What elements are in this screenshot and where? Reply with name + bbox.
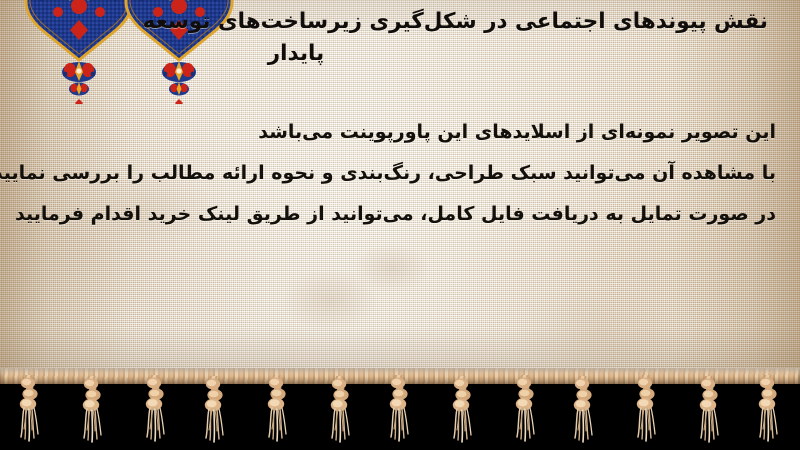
fringe-tassel — [631, 375, 661, 445]
tassel-icon — [325, 376, 355, 446]
tassel-icon — [14, 375, 44, 445]
tassel-icon — [631, 375, 661, 445]
pendant-drop-lower — [169, 82, 189, 96]
slide-title: نقش پیوندهای اجتماعی در شکل‌گیری زیرساخت… — [30, 6, 782, 70]
tassel-icon — [753, 375, 783, 445]
fringe-tassel — [510, 375, 540, 445]
tassel-icon — [199, 376, 229, 446]
tassel-icon — [262, 375, 292, 445]
fringe-tassel — [568, 376, 598, 446]
tassel-icon — [447, 376, 477, 446]
fringe-tassel — [694, 376, 724, 446]
fringe-tassel — [14, 375, 44, 445]
carpet-fringe-area — [0, 368, 800, 450]
body-line-3: در صورت تمایل به دریافت فایل کامل، می‌تو… — [20, 194, 776, 235]
slide-title-line-2: پایدار — [30, 38, 782, 70]
slide-title-line-1: نقش پیوندهای اجتماعی در شکل‌گیری زیرساخت… — [30, 6, 782, 38]
tassel-icon — [384, 375, 414, 445]
tassel-icon — [77, 376, 107, 446]
pendant-tip — [175, 99, 183, 104]
slide-body-text: این تصویر نمونه‌ای از اسلایدهای این پاور… — [20, 112, 776, 235]
fringe-tassel — [262, 375, 292, 445]
fringe-tassel — [199, 376, 229, 446]
fringe-tassel — [140, 375, 170, 445]
pendant-tip — [75, 99, 83, 104]
pendant-drop-lower — [69, 82, 89, 96]
fringe-tassel — [325, 376, 355, 446]
fringe-tassel — [753, 375, 783, 445]
tassel-icon — [568, 376, 598, 446]
body-line-2: با مشاهده آن می‌توانید سبک طراحی، رنگ‌بن… — [20, 153, 776, 194]
tassel-icon — [510, 375, 540, 445]
presentation-slide: نقش پیوندهای اجتماعی در شکل‌گیری زیرساخت… — [0, 0, 800, 450]
fringe-tassel — [447, 376, 477, 446]
fringe-tassel — [384, 375, 414, 445]
tassel-icon — [140, 375, 170, 445]
fringe-tassel — [77, 376, 107, 446]
body-line-1: این تصویر نمونه‌ای از اسلایدهای این پاور… — [20, 112, 776, 153]
tassel-icon — [694, 376, 724, 446]
